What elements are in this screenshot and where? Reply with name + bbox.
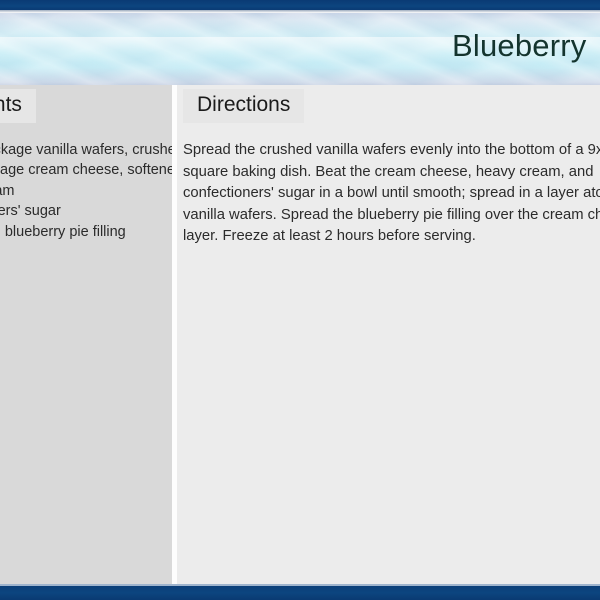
list-item: 1 (21 ounce) can blueberry pie filling bbox=[0, 222, 168, 242]
ingredients-heading: Ingredients bbox=[0, 89, 36, 123]
list-item: 1 cup heavy cream bbox=[0, 181, 168, 201]
ingredients-panel: Ingredients 1 (12 ounce) package vanilla… bbox=[0, 85, 172, 586]
bottom-accent-bar bbox=[0, 586, 600, 600]
top-accent-bar bbox=[0, 0, 600, 10]
directions-panel: Directions Spread the crushed vanilla wa… bbox=[177, 85, 600, 586]
directions-heading: Directions bbox=[183, 89, 304, 123]
recipe-card-page: Blueberry bbox=[0, 0, 600, 600]
page-title: Blueberry bbox=[452, 28, 586, 64]
list-item: 1 cup confectioners' sugar bbox=[0, 201, 168, 221]
recipe-body: Ingredients 1 (12 ounce) package vanilla… bbox=[0, 85, 600, 586]
ingredients-list: 1 (12 ounce) package vanilla wafers, cru… bbox=[0, 140, 168, 242]
directions-text: Spread the crushed vanilla wafers evenly… bbox=[183, 140, 600, 248]
list-item: 1 (12 ounce) package vanilla wafers, cru… bbox=[0, 140, 168, 160]
list-item: 1 (8 ounce) package cream cheese, soften… bbox=[0, 160, 168, 180]
